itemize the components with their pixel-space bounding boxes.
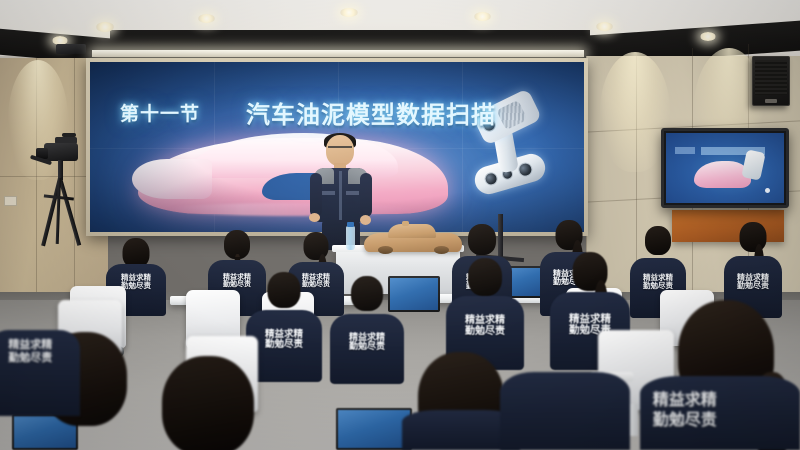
shirt-text: 精益求精 勤勉尽责 (643, 274, 673, 290)
student-head (468, 258, 502, 296)
uniform-pocket-right (346, 191, 359, 195)
wall-light-wash-r1 (600, 52, 670, 172)
instructor-arm-left (310, 173, 322, 217)
downlight-5 (474, 12, 491, 21)
downlight-2 (96, 22, 114, 32)
side-section-label (675, 147, 695, 154)
student-r2-4: 精益求精 勤勉尽责 (330, 276, 404, 384)
shirt-line-1: 精益求精 (465, 316, 505, 327)
shirt-text: 精益求精 勤勉尽责 (265, 330, 303, 350)
foreground-person-left2 (148, 356, 268, 450)
foreground-person-right: 精益求精 勤勉尽责 (640, 300, 800, 450)
downlight-3 (198, 14, 215, 23)
foreground-torso-far-left: 精益求精 勤勉尽责 (0, 330, 80, 416)
foreground-person-far-left: 精益求精 勤勉尽责 (0, 296, 80, 416)
shirt-line-2: 勤勉尽责 (737, 282, 769, 290)
shirt-line-1: 精益求精 (8, 338, 52, 351)
glasses-icon (328, 146, 352, 152)
shirt-text: 精益求精 勤勉尽责 (737, 274, 769, 291)
instructor-hand-left (309, 213, 320, 222)
foreground-torso-right: 精益求精 勤勉尽责 (640, 376, 800, 450)
water-bottle[interactable] (346, 226, 355, 250)
student-head (268, 272, 301, 308)
clay-cabin (388, 224, 436, 238)
side-cursor-dot (765, 188, 770, 193)
side-monitor[interactable] (661, 128, 789, 208)
clay-wheel-front (378, 246, 393, 254)
foreground-head-left2 (162, 356, 254, 450)
shirt-line-2: 勤勉尽责 (653, 410, 717, 430)
slide-section-label: 第十一节 (120, 99, 200, 126)
ceiling-projector (56, 44, 86, 54)
shirt-line-2: 勤勉尽责 (643, 282, 673, 290)
speaker-badge (765, 99, 777, 103)
shirt-text: 精益求精 勤勉尽责 (465, 316, 505, 337)
laptop-foreground[interactable] (336, 408, 412, 450)
shirt-text: 精益求精 勤勉尽责 (121, 274, 151, 290)
shirt-line-2: 勤勉尽责 (121, 282, 151, 290)
shirt-line-2: 勤勉尽责 (8, 351, 52, 364)
student-head (740, 222, 767, 252)
laptop-lid (336, 408, 412, 450)
downlight-6 (596, 22, 613, 31)
classroom-scene: 第十一节 汽车油泥模型数据扫描 (0, 0, 800, 450)
foreground-torso-center2 (500, 372, 630, 450)
downlight-7 (700, 32, 716, 41)
shirt-text: 精益求精 勤勉尽责 (349, 334, 385, 353)
camera-body (44, 143, 78, 161)
uniform-placket (339, 171, 342, 221)
shirt-line-2: 勤勉尽责 (465, 327, 505, 338)
shirt-text: 精益求精 勤勉尽责 (8, 338, 52, 364)
speaker-grill (755, 60, 787, 95)
student-head (645, 226, 671, 255)
wall-switch-plate[interactable] (4, 196, 17, 206)
instructor-arm-right (360, 173, 372, 217)
shirt-text: 精益求精 勤勉尽责 (653, 390, 717, 430)
foreground-person-center2 (500, 372, 630, 450)
student-torso: 精益求精 勤勉尽责 (330, 314, 404, 384)
student-head (468, 224, 496, 255)
clay-wheel-rear (434, 246, 449, 254)
shirt-line-2: 勤勉尽责 (349, 343, 385, 352)
student-head (351, 276, 383, 311)
shirt-line-2: 勤勉尽责 (265, 340, 303, 350)
screen-light-bar (92, 50, 584, 57)
side-monitor-screen (666, 133, 784, 203)
uniform-pocket-left (322, 191, 335, 195)
shirt-line-1: 精益求精 (653, 390, 717, 410)
downlight-4 (340, 8, 358, 17)
wall-speaker (752, 56, 790, 106)
slide-title: 汽车油泥模型数据扫描 (246, 95, 496, 130)
laptop-screen (338, 410, 410, 448)
water-bottle-cap (347, 222, 354, 227)
clay-mirror (402, 221, 409, 226)
clay-car-model[interactable] (364, 224, 462, 252)
